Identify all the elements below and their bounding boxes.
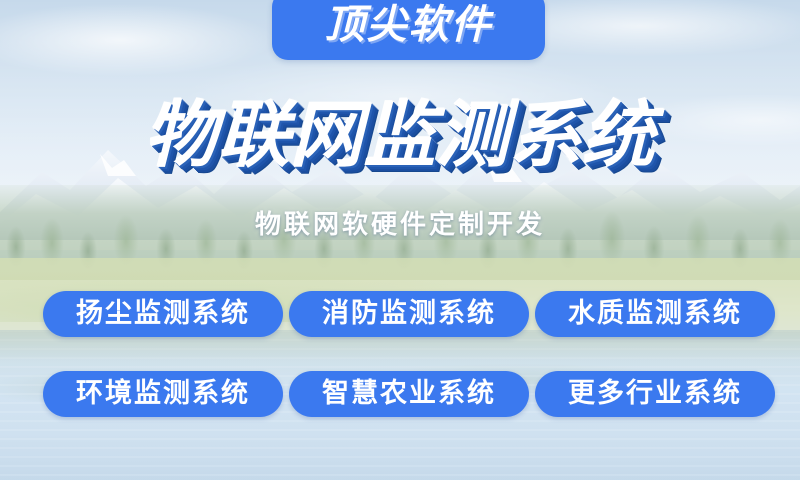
brand-badge-label: 顶尖软件 xyxy=(272,1,545,49)
service-pill-agriculture[interactable]: 智慧农业系统 xyxy=(289,371,529,417)
service-pill-more[interactable]: 更多行业系统 xyxy=(535,371,775,417)
page-title: 物联网监测系统 xyxy=(0,92,800,178)
brand-badge: 顶尖软件 xyxy=(272,0,545,60)
banner-content: 顶尖软件 物联网监测系统 物联网软硬件定制开发 扬尘监测系统 消防监测系统 水质… xyxy=(0,0,800,480)
service-pill-grid: 扬尘监测系统 消防监测系统 水质监测系统 环境监测系统 智慧农业系统 更多行业系… xyxy=(43,291,775,417)
service-pill-environment[interactable]: 环境监测系统 xyxy=(43,371,283,417)
promo-banner: 顶尖软件 物联网监测系统 物联网软硬件定制开发 扬尘监测系统 消防监测系统 水质… xyxy=(0,0,800,480)
service-pill-water[interactable]: 水质监测系统 xyxy=(535,291,775,337)
page-subtitle: 物联网软硬件定制开发 xyxy=(0,208,800,242)
service-pill-fire[interactable]: 消防监测系统 xyxy=(289,291,529,337)
service-pill-dust[interactable]: 扬尘监测系统 xyxy=(43,291,283,337)
